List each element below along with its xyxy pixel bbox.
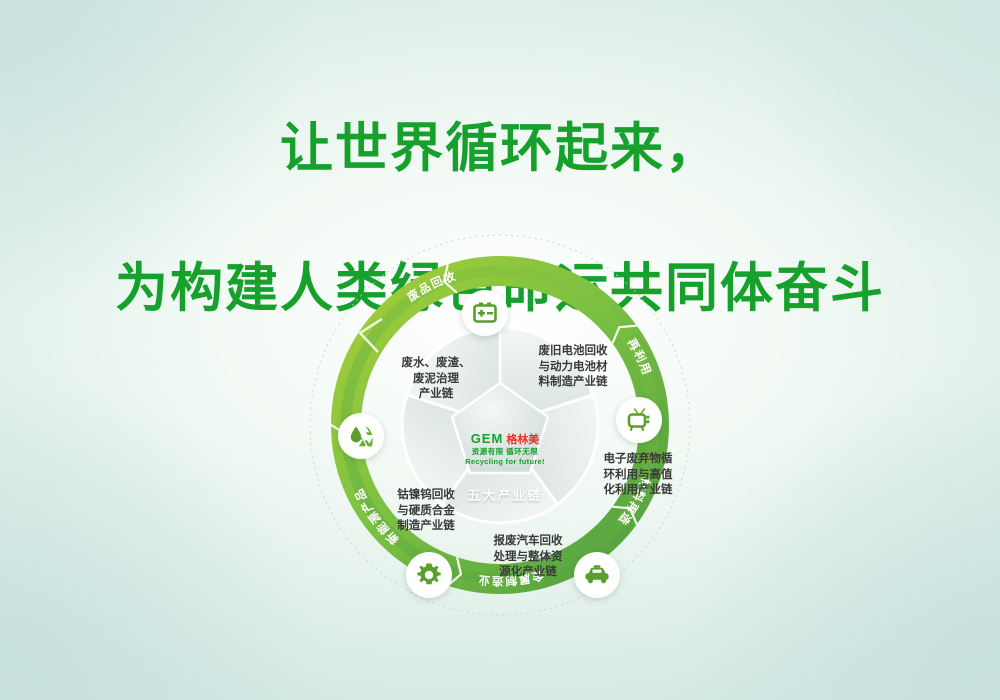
car-icon xyxy=(583,561,611,589)
icon-bubble-car[interactable] xyxy=(574,552,620,598)
battery-icon xyxy=(472,300,498,326)
icon-bubble-tv[interactable] xyxy=(616,397,662,443)
icon-bubble-battery[interactable] xyxy=(462,290,508,336)
tv-icon xyxy=(626,407,653,434)
gear-icon xyxy=(416,562,442,588)
icon-bubble-gear[interactable] xyxy=(406,552,452,598)
water-recycle-icon xyxy=(348,423,375,450)
page-title-line1: 让世界循环起来， xyxy=(0,114,1000,184)
icon-bubble-water-recycle[interactable] xyxy=(338,413,384,459)
